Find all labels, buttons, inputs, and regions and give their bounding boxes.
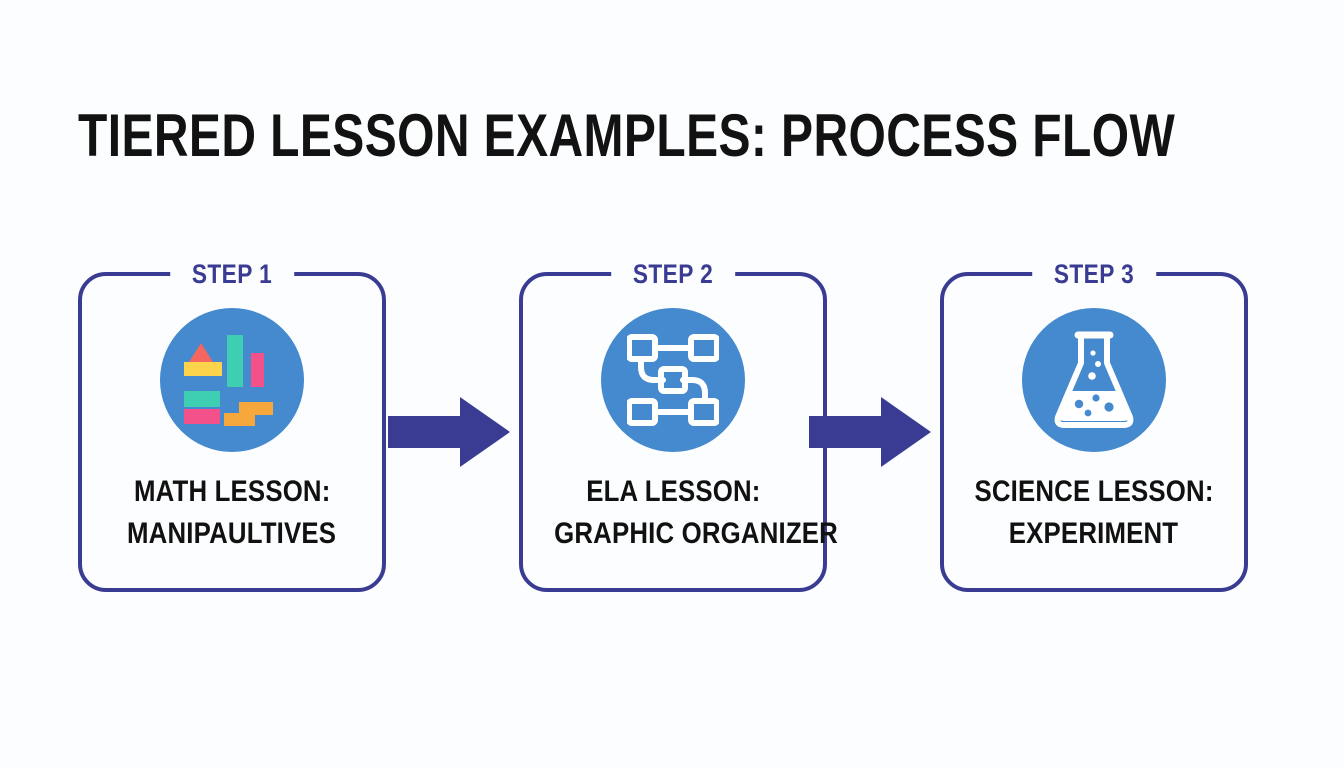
step-card-1[interactable]: STEP 1 [78,272,386,592]
step-2-icon-circle [601,308,745,452]
page-title: TIERED LESSON EXAMPLES: PROCESS FLOW [78,104,1175,168]
arrow-step2-to-step3 [809,397,931,467]
step-1-caption: MATH LESSON: MANIPAULTIVES [90,471,374,555]
step-3-caption: SCIENCE LESSON: EXPERIMENT [952,471,1236,555]
step-3-caption-line-1: SCIENCE LESSON: [952,471,1236,513]
step-1-caption-line-1: MATH LESSON: [90,471,374,513]
step-card-2[interactable]: STEP 2 [519,272,827,592]
step-label-2-text: STEP 2 [633,259,713,289]
step-1-icon-circle [160,308,304,452]
science-flask-icon [1052,331,1136,429]
step-label-3: STEP 3 [1032,259,1156,289]
step-label-1-text: STEP 1 [192,259,272,289]
step-2-caption-line-1: ELA LESSON: [531,471,815,513]
step-2-caption-line-2: GRAPHIC ORGANIZER [531,513,815,555]
step-3-icon-circle [1022,308,1166,452]
math-manipulatives-icon [182,333,282,427]
graphic-organizer-icon [627,334,719,426]
step-2-caption: ELA LESSON: GRAPHIC ORGANIZER [531,471,815,555]
step-card-3[interactable]: STEP 3 [940,272,1248,592]
step-label-2: STEP 2 [611,259,735,289]
step-label-1: STEP 1 [170,259,294,289]
arrow-step1-to-step2 [388,397,510,467]
step-3-caption-line-2: EXPERIMENT [952,513,1236,555]
step-label-3-text: STEP 3 [1054,259,1134,289]
step-1-caption-line-2: MANIPAULTIVES [90,513,374,555]
process-flow-diagram: STEP 1 [78,272,1248,594]
